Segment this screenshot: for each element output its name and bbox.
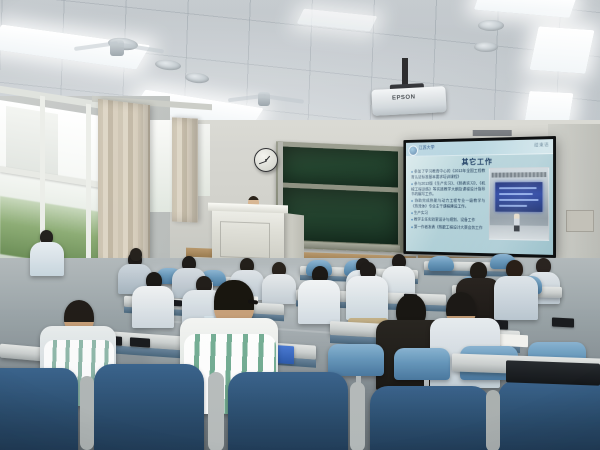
lectern-front-panel: [220, 221, 270, 259]
mobile-phone[interactable]: [130, 337, 150, 347]
led-text-line: [499, 193, 533, 195]
slide-bullet: 第一作者发表《热能工程设计大赛会务工作: [411, 224, 485, 231]
ceiling-fan: [110, 40, 124, 56]
slide-bullet-list: 参加了学习教育中心的《2013年全国工程教育认证标准基本要求培训课程》 参与20…: [411, 168, 485, 232]
projection-screen: 江苏大学 结束语 其它工作 参加了学习教育中心的《2013年全国工程教育认证标准…: [403, 136, 556, 258]
wall-panel-box: [566, 210, 594, 232]
mobile-phone[interactable]: [552, 317, 574, 327]
student-chair[interactable]: [94, 364, 204, 450]
screen-mount-bar: [473, 130, 512, 136]
slide-bullet: 生产实习: [411, 210, 485, 217]
projector: [371, 86, 446, 116]
slide-corner-text: 结束语: [534, 142, 549, 148]
window-curtain[interactable]: [98, 99, 150, 271]
student-body: [494, 276, 538, 320]
university-logo-icon: [408, 145, 417, 156]
slide-bullet: 协助完成热能与动力工程专业一级教学与《热流体》专业主干课程建设工作。: [411, 198, 485, 209]
window-mullion: [86, 104, 91, 281]
ceiling-light-fixture: [529, 26, 594, 73]
slide-bullet: 教学主任实验室设计与规划、设备工作: [411, 217, 485, 224]
photo-person: [514, 214, 520, 232]
student-chair[interactable]: [228, 372, 348, 450]
student-body: [132, 286, 174, 328]
ceiling-fan: [258, 92, 270, 106]
ceiling-vent-icon: [474, 42, 498, 52]
slide-embedded-photo: [489, 167, 549, 241]
student-chair[interactable]: [328, 344, 384, 376]
student-chair[interactable]: [498, 380, 600, 450]
slide-bullet: 参加了学习教育中心的《2013年全国工程教育认证标准基本要求培训课程》: [411, 168, 485, 180]
student-chair[interactable]: [0, 368, 78, 450]
student-body: [346, 276, 388, 320]
led-text-line: [499, 205, 527, 207]
window-curtain[interactable]: [172, 117, 198, 222]
slide-bullet: 参与2013版《生产实习》、《热表实习》、《机械工程训练》等实践教学大纲及课程设…: [411, 180, 485, 196]
chair-leg: [350, 382, 365, 450]
student-chair[interactable]: [370, 386, 490, 450]
slide-title: 其它工作: [406, 155, 553, 168]
student-body: [262, 274, 296, 304]
classroom-photo: EPSON 江苏大学 结束语 其它工作 参加: [0, 0, 600, 450]
student-chair[interactable]: [394, 348, 450, 380]
led-text-line: [499, 199, 539, 201]
chair-leg: [80, 376, 94, 450]
student-head: [130, 248, 142, 261]
desk-dark-object: [506, 360, 600, 385]
projector-brand-label: EPSON: [392, 94, 416, 101]
wall-clock: [254, 148, 278, 172]
student-chair[interactable]: [428, 256, 454, 271]
slide-surface: 江苏大学 结束语 其它工作 参加了学习教育中心的《2013年全国工程教育认证标准…: [406, 139, 553, 255]
photo-led-display: [495, 182, 542, 212]
photo-truss: [492, 172, 547, 177]
chair-leg: [486, 390, 500, 450]
chalkboard-upper-panel: [282, 146, 398, 187]
chair-leg: [208, 372, 224, 450]
student-body: [298, 280, 340, 324]
ceiling-vent-icon: [478, 20, 504, 31]
led-text-line: [499, 187, 537, 189]
student-body: [30, 242, 64, 276]
window-glass-far: [196, 124, 210, 196]
slide-university-name: 江苏大学: [419, 145, 435, 151]
